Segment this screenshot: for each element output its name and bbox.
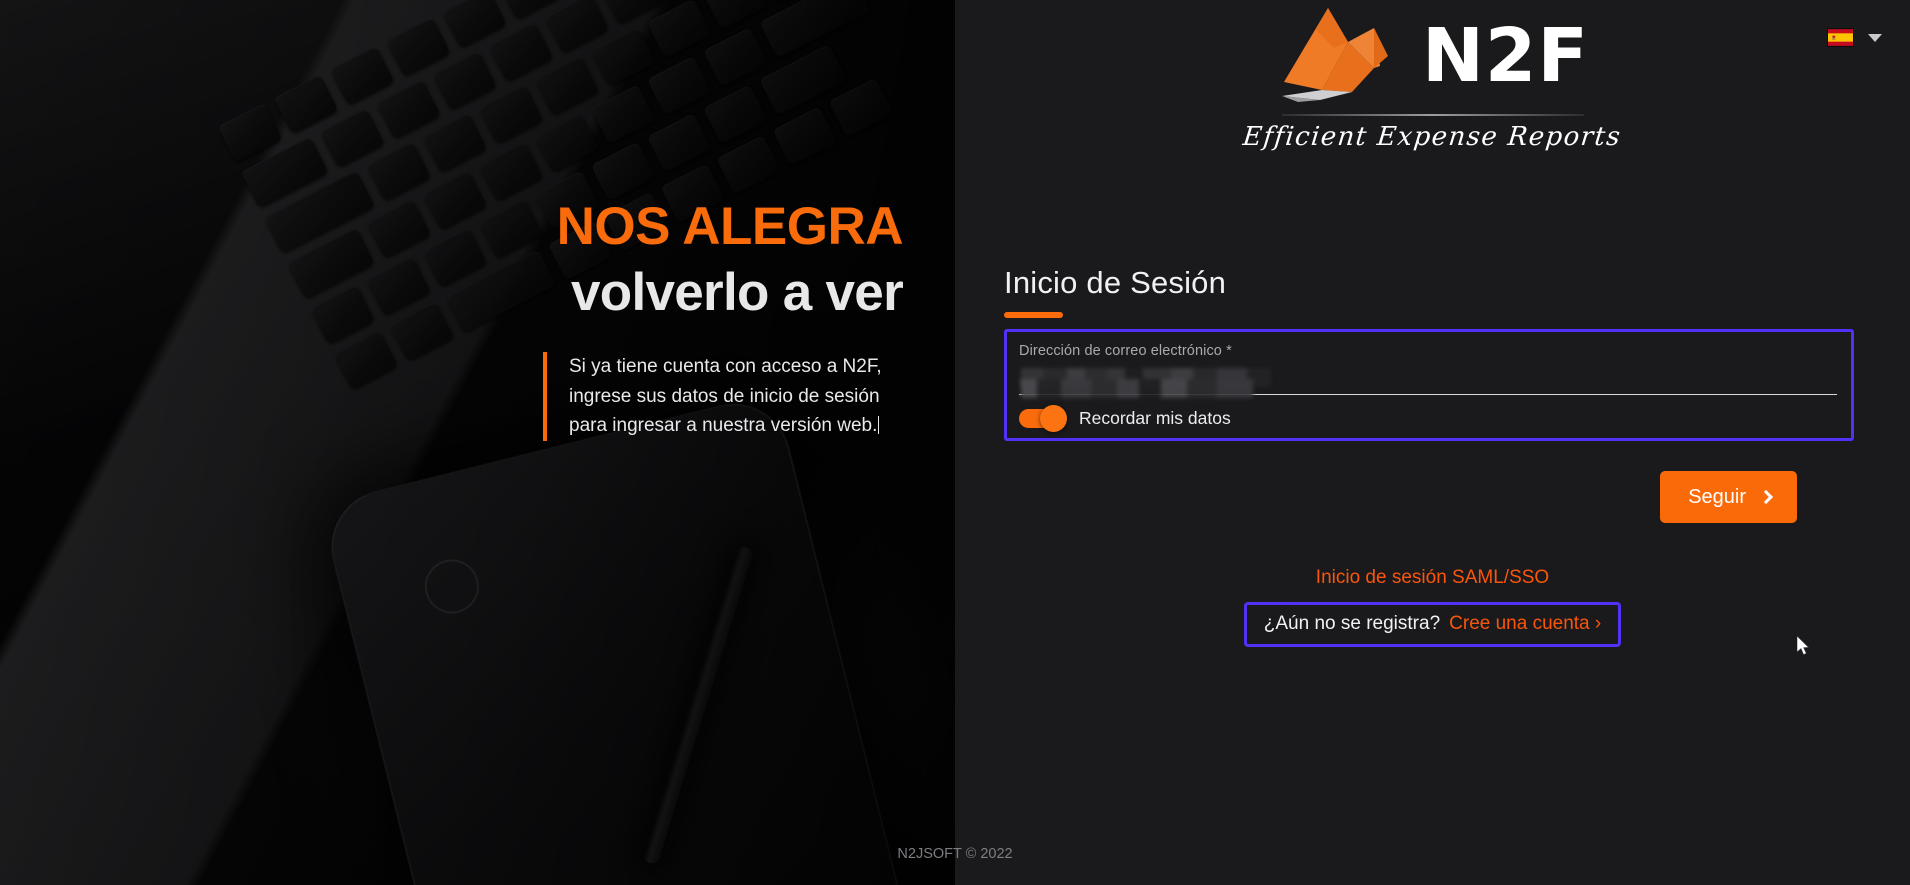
hero-headline-secondary: volverlo a ver xyxy=(0,263,903,322)
hero-copy: NOS ALEGRA volverlo a ver Si ya tiene cu… xyxy=(0,200,955,441)
signup-link[interactable]: Cree una cuenta › xyxy=(1449,613,1601,635)
email-field-group[interactable]: Dirección de correo electrónico * Record… xyxy=(1004,329,1854,441)
auxiliary-links: Inicio de sesión SAML/SSO ¿Aún no se reg… xyxy=(955,567,1910,647)
brand-logo: N2F Efficient Expense Reports xyxy=(955,0,1910,152)
n2f-origami-bird-logo-icon xyxy=(1276,4,1406,108)
footer-copyright: N2JSOFT © 2022 xyxy=(0,846,1910,862)
signup-question: ¿Aún no se registra? xyxy=(1264,613,1440,635)
submit-button[interactable]: Seguir xyxy=(1660,471,1797,523)
remember-me-toggle[interactable] xyxy=(1019,409,1065,428)
signup-prompt[interactable]: ¿Aún no se registra? Cree una cuenta › xyxy=(1244,602,1621,647)
page-title: Inicio de Sesión xyxy=(1004,265,1854,301)
brand-wordmark: N2F xyxy=(1422,19,1589,93)
logo-divider xyxy=(1282,114,1584,116)
login-page: NOS ALEGRA volverlo a ver Si ya tiene cu… xyxy=(0,0,1910,885)
login-panel: N2F Efficient Expense Reports Inicio de … xyxy=(955,0,1910,885)
hero-headline-primary: NOS ALEGRA xyxy=(0,200,903,255)
login-form: Inicio de Sesión Dirección de correo ele… xyxy=(955,265,1910,523)
remember-me-label: Recordar mis datos xyxy=(1079,408,1231,429)
brand-tagline: Efficient Expense Reports xyxy=(1242,122,1623,152)
title-underline xyxy=(1004,312,1063,318)
toggle-knob xyxy=(1040,405,1067,432)
hero-overlay xyxy=(0,0,955,885)
saml-sso-link[interactable]: Inicio de sesión SAML/SSO xyxy=(1316,567,1549,589)
submit-button-label: Seguir xyxy=(1688,487,1746,507)
email-value-redacted-2 xyxy=(1021,379,1253,398)
remember-me-row[interactable]: Recordar mis datos xyxy=(1019,408,1837,429)
hero-paragraph: Si ya tiene cuenta con acceso a N2F, ing… xyxy=(543,352,903,441)
hero-panel: NOS ALEGRA volverlo a ver Si ya tiene cu… xyxy=(0,0,955,885)
chevron-right-icon xyxy=(1759,489,1773,503)
hero-paragraph-text: Si ya tiene cuenta con acceso a N2F, ing… xyxy=(569,356,882,436)
text-caret xyxy=(878,416,879,434)
email-field-label: Dirección de correo electrónico * xyxy=(1019,343,1837,359)
email-input[interactable] xyxy=(1019,365,1837,395)
submit-row: Seguir xyxy=(1004,471,1854,523)
